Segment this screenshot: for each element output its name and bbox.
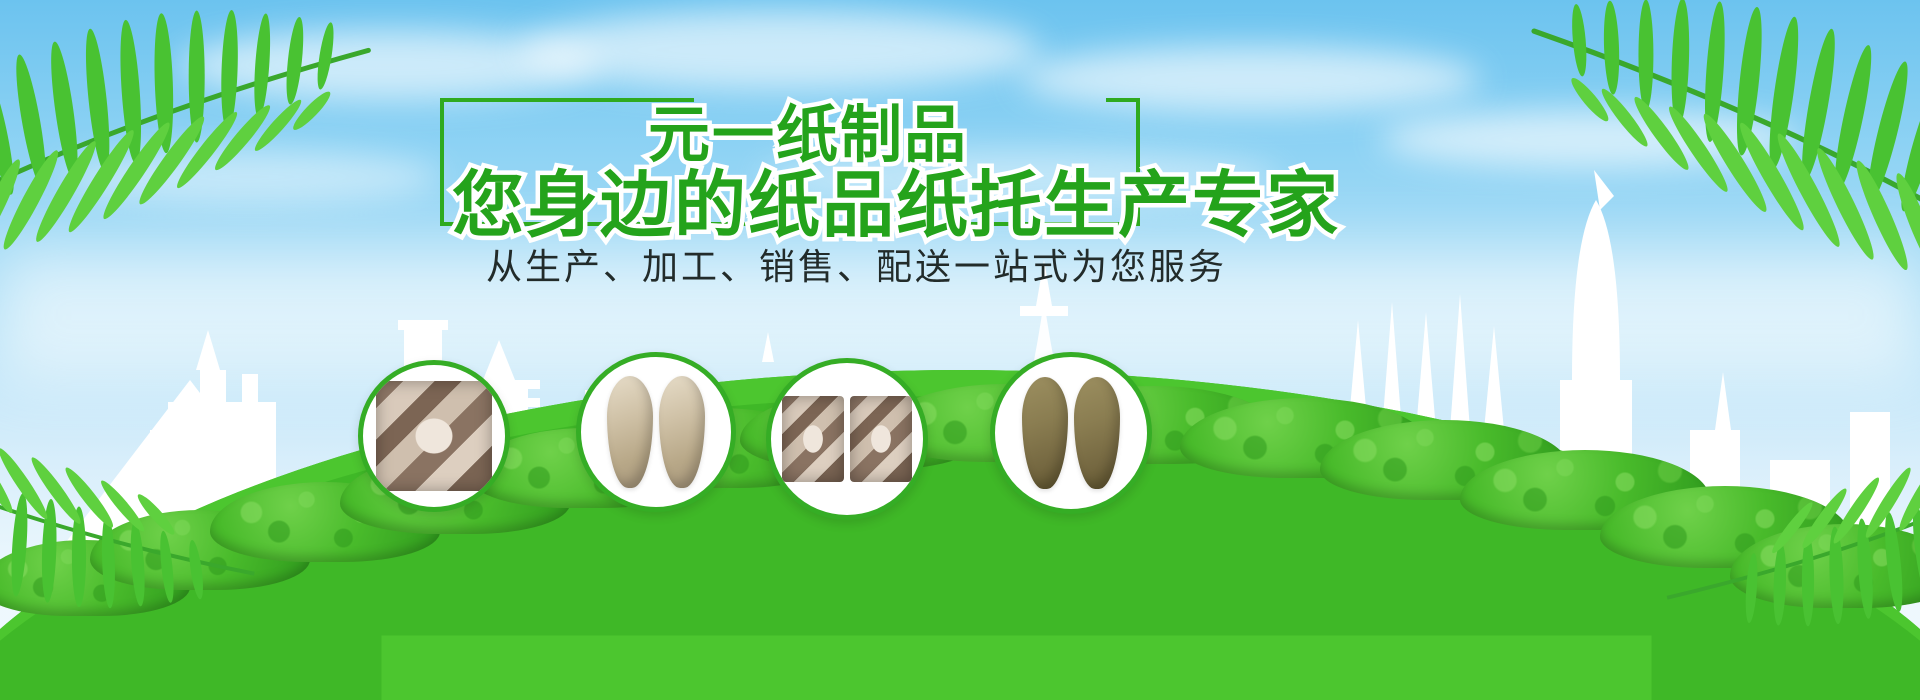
paper-pulp-tray-square [376, 381, 492, 491]
cloud-icon [520, 10, 1040, 90]
product-circle-tray-pair[interactable] [766, 358, 928, 520]
product-circle-insole-dark[interactable] [990, 352, 1152, 514]
insole-right [659, 376, 705, 488]
paper-pulp-tray-double [782, 396, 912, 482]
tray-shape [376, 381, 492, 491]
frame-rule-right [1106, 98, 1136, 102]
subtitle: 从生产、加工、销售、配送一站式为您服务 [486, 238, 1227, 290]
product-circle-tray[interactable] [358, 360, 510, 512]
palm-frond-icon [0, 0, 395, 291]
tray-shape-right [850, 396, 912, 482]
paper-pulp-insole-pair-dark [1022, 377, 1120, 489]
tray-shape-left [782, 396, 844, 482]
insole-left [607, 376, 653, 488]
product-circle-insole-light[interactable] [576, 352, 736, 512]
insole-dark-right [1074, 377, 1120, 489]
palm-frond-icon [1641, 379, 1920, 700]
paper-pulp-insole-pair-light [607, 376, 705, 488]
page-title: 您身边的纸品纸托生产专家 [452, 146, 1340, 251]
insole-dark-left [1022, 377, 1068, 489]
promotional-banner: 元一纸制品 您身边的纸品纸托生产专家 从生产、加工、销售、配送一站式为您服务 [0, 0, 1920, 700]
palm-frond-icon [1505, 0, 1920, 288]
